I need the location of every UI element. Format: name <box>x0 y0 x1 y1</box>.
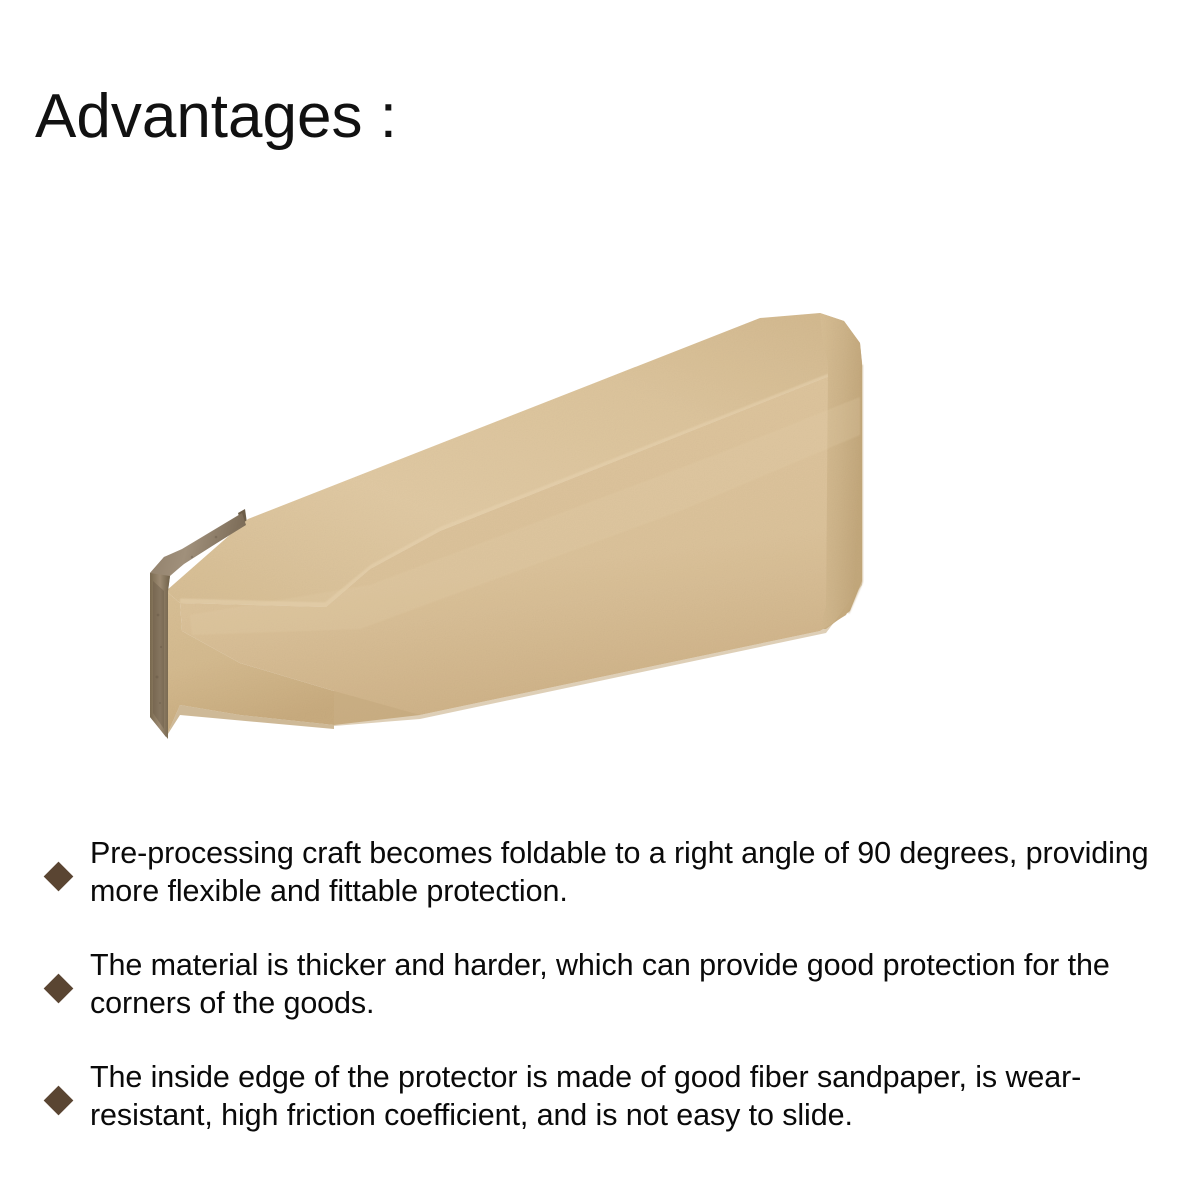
advantage-text: Pre-processing craft becomes foldable to… <box>90 836 1149 908</box>
diamond-bullet-icon <box>44 862 74 892</box>
advantage-text: The inside edge of the protector is made… <box>90 1060 1081 1132</box>
advantage-text: The material is thicker and harder, whic… <box>90 948 1110 1020</box>
list-item: The inside edge of the protector is made… <box>38 1058 1188 1144</box>
diamond-bullet-icon <box>44 974 74 1004</box>
diamond-bullet-icon <box>44 1086 74 1116</box>
list-item: Pre-processing craft becomes foldable to… <box>38 834 1188 920</box>
product-image-corner-protector <box>120 285 1000 745</box>
advantages-list: Pre-processing craft becomes foldable to… <box>38 834 1188 1144</box>
page-title: Advantages : <box>35 86 397 148</box>
list-item: The material is thicker and harder, whic… <box>38 946 1188 1032</box>
page-root: Advantages : <box>0 0 1200 1200</box>
corner-protector-illustration <box>120 285 1000 745</box>
